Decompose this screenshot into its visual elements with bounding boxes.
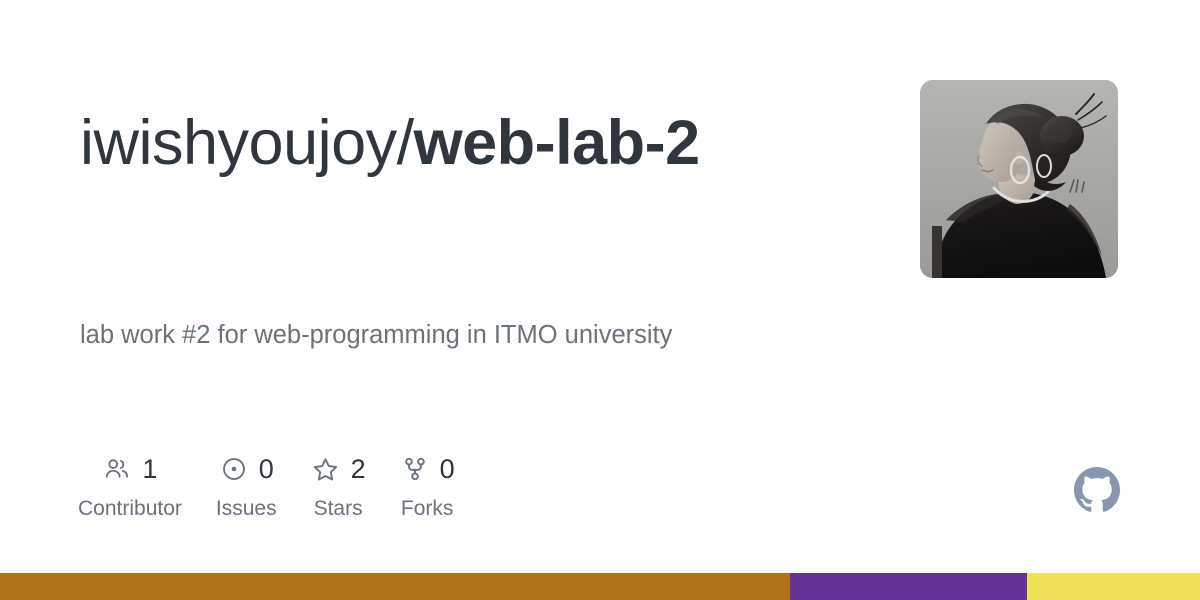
stat-contributors: 1 Contributor (78, 452, 182, 519)
repository-stats: 1 Contributor 0 Issues (78, 452, 489, 519)
language-segment-3 (1027, 573, 1200, 600)
repo-forked-icon (400, 454, 430, 484)
stat-forks: 0 Forks (400, 452, 455, 519)
repository-social-card: iwishyoujoy/web-lab-2 lab work #2 for we… (0, 0, 1200, 600)
stat-label: Contributor (78, 498, 182, 519)
issue-opened-icon (219, 454, 249, 484)
star-icon (311, 454, 341, 484)
stat-top-row: 0 (219, 452, 274, 486)
stat-issues: 0 Issues (216, 452, 277, 519)
stat-top-row: 2 (311, 452, 366, 486)
people-icon (102, 454, 132, 484)
stat-label: Issues (216, 498, 277, 519)
stat-top-row: 1 (102, 452, 157, 486)
stat-value: 1 (142, 456, 157, 483)
stat-label: Forks (401, 498, 454, 519)
stat-value: 2 (351, 456, 366, 483)
repository-owner-avatar (920, 80, 1118, 278)
repo-name: web-lab-2 (414, 108, 700, 178)
stat-label: Stars (314, 498, 363, 519)
github-logo-icon (1074, 467, 1120, 513)
stat-stars: 2 Stars (311, 452, 366, 519)
stat-value: 0 (440, 456, 455, 483)
page-title: iwishyoujoy/web-lab-2 (80, 96, 780, 190)
language-segment-2 (790, 573, 1028, 600)
stat-top-row: 0 (400, 452, 455, 486)
repo-description: lab work #2 for web-programming in ITMO … (80, 312, 770, 359)
stat-value: 0 (259, 456, 274, 483)
language-bar (0, 573, 1200, 600)
repo-owner: iwishyoujoy/ (80, 108, 414, 178)
language-segment-1 (0, 573, 790, 600)
